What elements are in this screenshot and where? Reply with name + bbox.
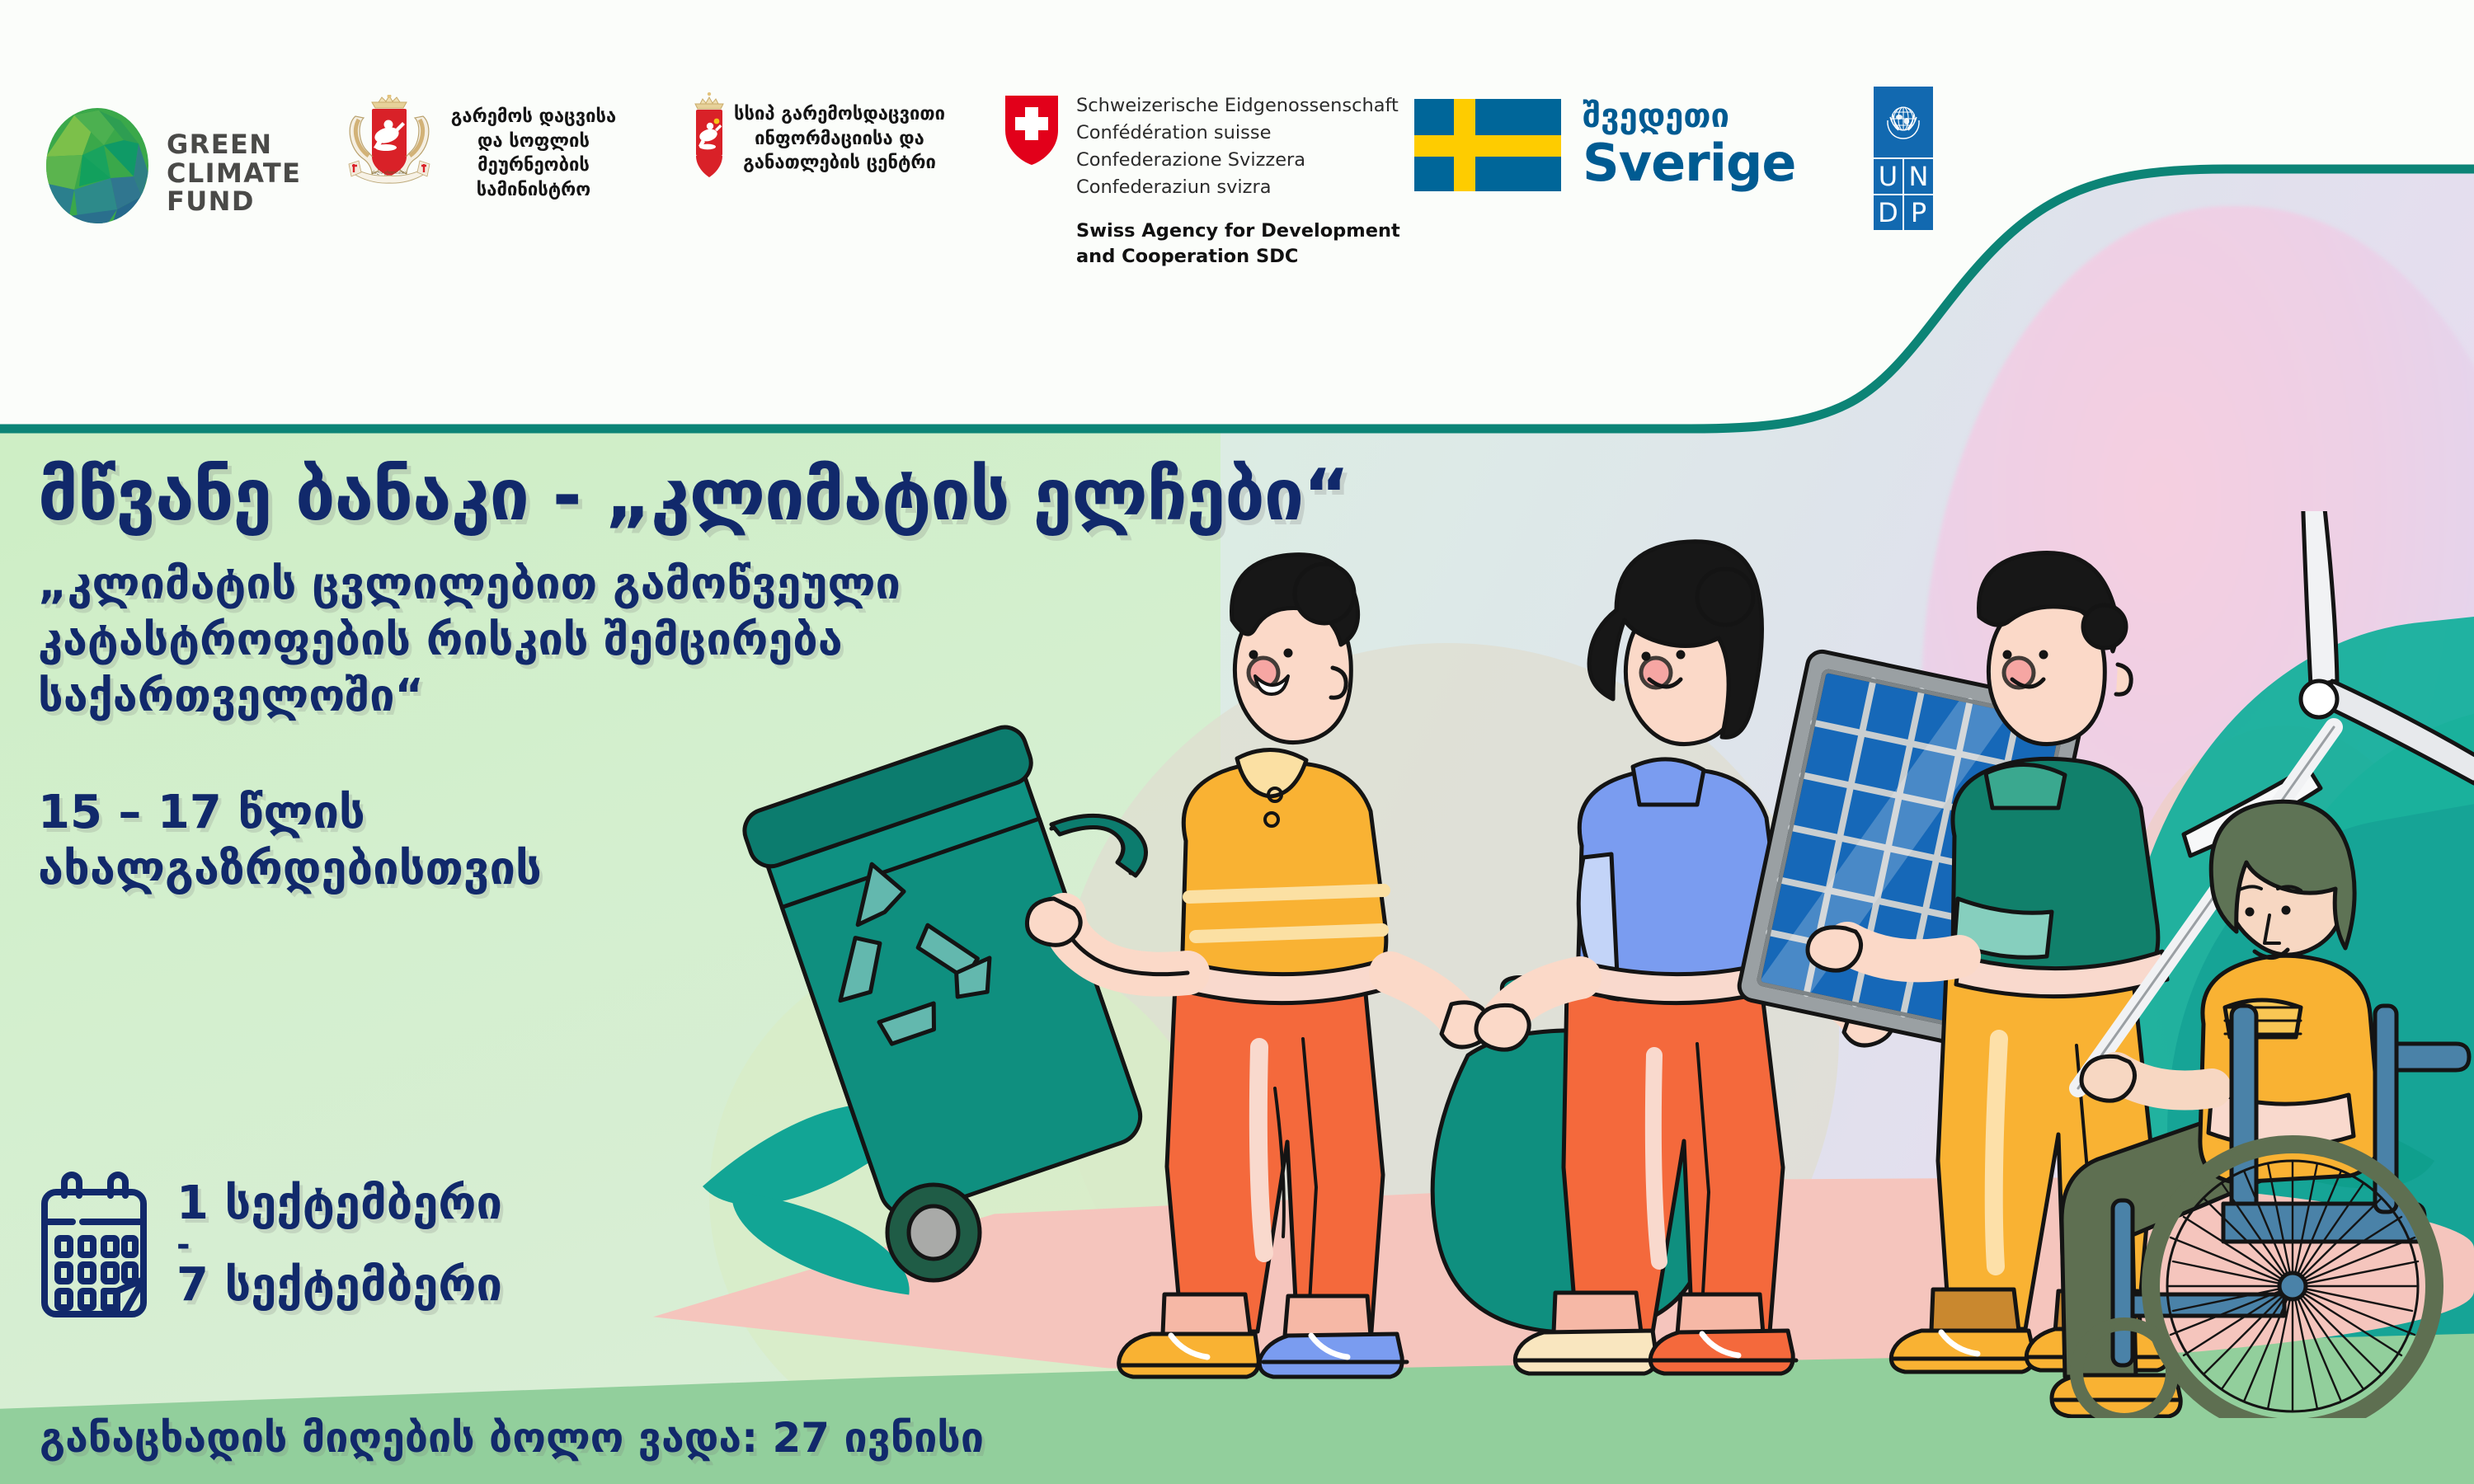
gcf-line-3: FUND: [167, 187, 301, 216]
sdc-line-2: Confédération suisse: [1076, 120, 1400, 147]
sdc-bold-1: Swiss Agency for Development: [1076, 218, 1400, 243]
subtitle-line-3: საქართველოში“: [38, 668, 1440, 724]
camp-dates-text: 1 სექტემბერი - 7 სექტემბერი: [176, 1178, 502, 1311]
age-range-line-1: 15 – 17 წლის: [38, 785, 1440, 841]
partner-logo-strip: GREEN CLIMATE FUND: [0, 0, 2062, 272]
logo-undp: U N D P: [1874, 87, 1933, 230]
sweden-latin-label: Sverige: [1583, 136, 1795, 190]
svg-text:ძალა ერთობაშია: ძალა ერთობაშია: [372, 170, 407, 176]
logo-info-centre: სსიპ გარემოსდაცვითი ინფორმაციისა და განა…: [684, 92, 957, 181]
sweden-georgian-label: შვედეთი: [1583, 100, 1795, 133]
poster-root: GREEN CLIMATE FUND: [0, 0, 2474, 1484]
undp-letter-u: U: [1874, 159, 1903, 194]
gcf-wordmark: GREEN CLIMATE FUND: [167, 107, 301, 216]
subtitle-line-2: კატასტროფების რისკის შემცირება: [38, 612, 1440, 668]
ministry-line-2: მეურნეობის სამინისტრო: [444, 153, 623, 202]
info-centre-wordmark: სსიპ გარემოსდაცვითი ინფორმაციისა და განა…: [734, 102, 945, 176]
ministry-wordmark: გარემოს დაცვისა და სოფლის მეურნეობის სამ…: [444, 105, 623, 203]
age-range-line-2: ახალგაზრდებისთვის: [38, 841, 1440, 897]
page-title: მწვანე ბანაკი - „კლიმატის ელჩები“: [38, 458, 1440, 534]
undp-letter-n: N: [1904, 159, 1933, 194]
calendar-icon: [40, 1171, 148, 1319]
subtitle-line-1: „კლიმატის ცვლილებით გამოწვეული: [38, 556, 1440, 612]
undp-letter-d: D: [1874, 195, 1903, 230]
georgia-coat-of-arms-full-icon: ძალა ერთობაშია: [334, 95, 444, 184]
gcf-globe-icon: [41, 107, 153, 224]
ministry-line-1: გარემოს დაცვისა და სოფლის: [444, 105, 623, 153]
swiss-shield-icon: [1002, 92, 1061, 168]
sdc-line-4: Confederaziun svizra: [1076, 174, 1400, 201]
application-deadline-text: განაცხადის მიღების ბოლო ვადა: 27 ივნისი: [40, 1414, 984, 1462]
undp-letter-p: P: [1904, 195, 1933, 230]
project-subtitle: „კლიმატის ცვლილებით გამოწვეული კატასტროფ…: [38, 556, 1440, 724]
info-centre-line-1: სსიპ გარემოსდაცვითი: [734, 102, 945, 127]
main-copy-block: მწვანე ბანაკი - „კლიმატის ელჩები“ „კლიმა…: [38, 458, 1440, 898]
sdc-line-1: Schweizerische Eidgenossenschaft: [1076, 92, 1400, 120]
gcf-line-2: CLIMATE: [167, 159, 301, 188]
gcf-line-1: GREEN: [167, 130, 301, 159]
logo-ministry: ძალა ერთობაშია გარემოს დაცვისა და სოფლის…: [334, 95, 623, 203]
info-centre-line-3: განათლების ცენტრი: [734, 151, 945, 176]
georgia-shield-crown-icon: [684, 92, 734, 181]
camp-dates-block: 1 სექტემბერი - 7 სექტემბერი: [40, 1171, 502, 1319]
logo-green-climate-fund: GREEN CLIMATE FUND: [41, 107, 301, 224]
sdc-line-3: Confederazione Svizzera: [1076, 147, 1400, 174]
info-centre-line-2: ინფორმაციისა და: [734, 127, 945, 152]
wind-turbine: [2184, 511, 2474, 856]
age-range-text: 15 – 17 წლის ახალგაზრდებისთვის: [38, 785, 1440, 898]
sweden-wordmark: შვედეთი Sverige: [1583, 100, 1795, 190]
logo-swiss-sdc: Schweizerische Eidgenossenschaft Confédé…: [1002, 92, 1400, 269]
camp-date-separator: -: [176, 1230, 502, 1260]
camp-date-end: 7 სექტემბერი: [176, 1260, 502, 1312]
logo-sweden: შვედეთი Sverige: [1414, 99, 1795, 191]
un-emblem-icon: [1874, 87, 1933, 157]
sdc-bold-2: and Cooperation SDC: [1076, 244, 1400, 269]
sdc-text-block: Schweizerische Eidgenossenschaft Confédé…: [1076, 92, 1400, 269]
sweden-flag-icon: [1414, 99, 1561, 191]
camp-date-start: 1 სექტემბერი: [176, 1178, 502, 1230]
